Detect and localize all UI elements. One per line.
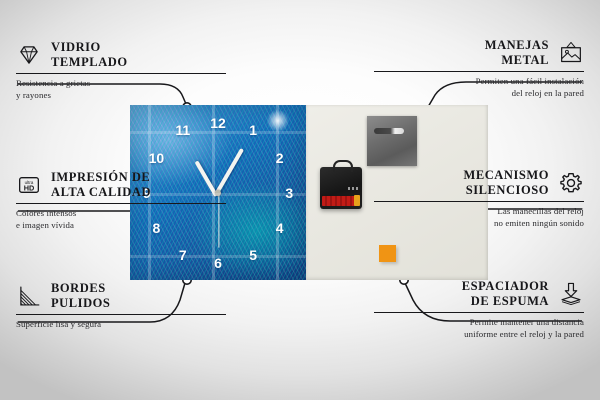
- feature-subtitle-line2: del reloj en la pared: [374, 88, 584, 100]
- clock-numeral-4: 4: [276, 220, 284, 236]
- feature-title-line1: VIDRIO: [51, 40, 128, 55]
- clock-numeral-10: 10: [149, 150, 165, 166]
- foam-spacer-arrow-icon: [558, 281, 584, 307]
- feature-espaciador-espuma: ESPACIADOR DE ESPUMA Permite mantener un…: [374, 279, 584, 341]
- feature-divider: [374, 312, 584, 314]
- metal-hanger-plate: [367, 116, 417, 166]
- clock-numeral-11: 11: [175, 122, 190, 138]
- feature-impresion-alta-calidad: ultra HD IMPRESIÓN DE ALTA CALIDAD Color…: [16, 170, 226, 232]
- feature-divider: [16, 203, 226, 205]
- clock-numeral-3: 3: [285, 185, 293, 201]
- mechanism-hanging-loop: [333, 160, 353, 172]
- feature-divider: [374, 71, 584, 73]
- feature-divider: [16, 314, 226, 316]
- feature-title-line1: MANEJAS: [485, 38, 549, 53]
- diamond-icon: [16, 42, 42, 68]
- clock-numeral-6: 6: [214, 255, 222, 271]
- feature-title-line1: IMPRESIÓN DE: [51, 170, 151, 185]
- clock-numeral-1: 1: [249, 122, 257, 138]
- feature-subtitle-line2: uniforme entre el reloj y la pared: [374, 329, 584, 341]
- feature-bordes-pulidos: BORDES PULIDOS Superficie lisa y segura: [16, 281, 226, 331]
- svg-text:HD: HD: [24, 183, 35, 192]
- feature-title-line2: SILENCIOSO: [463, 183, 549, 198]
- feature-divider: [16, 73, 226, 75]
- clock-numeral-2: 2: [276, 150, 284, 166]
- feature-subtitle-line1: Las manecillas del reloj: [374, 206, 584, 218]
- feature-subtitle-line1: Colores intensos: [16, 208, 226, 220]
- feature-vidrio-templado: VIDRIO TEMPLADO Resistencia a grietas y …: [16, 40, 226, 102]
- feature-title-line1: ESPACIADOR: [462, 279, 549, 294]
- mechanism-battery-label: [322, 196, 356, 206]
- hanger-slot: [374, 128, 404, 134]
- clock-numeral-12: 12: [210, 115, 226, 131]
- feature-title-line2: DE ESPUMA: [462, 294, 549, 309]
- feature-subtitle-line1: Permiten una fácil instalación: [374, 76, 584, 88]
- feature-manejas-metal: MANEJAS METAL Permiten una fácil instala…: [374, 38, 584, 100]
- mechanism-label-text: [348, 187, 358, 190]
- feature-subtitle-line1: Superficie lisa y segura: [16, 319, 226, 331]
- feature-title-line2: ALTA CALIDAD: [51, 185, 151, 200]
- feature-subtitle-line2: no emiten ningún sonido: [374, 218, 584, 230]
- clock-numeral-5: 5: [249, 247, 257, 263]
- feature-title-line1: MECANISMO: [463, 168, 549, 183]
- feature-title-line2: PULIDOS: [51, 296, 110, 311]
- feature-title-line2: TEMPLADO: [51, 55, 128, 70]
- clock-numeral-7: 7: [179, 247, 187, 263]
- clock-mechanism: [320, 167, 362, 209]
- feature-subtitle-line1: Resistencia a grietas: [16, 78, 226, 90]
- feature-title-line2: METAL: [485, 53, 549, 68]
- gear-icon: [558, 170, 584, 196]
- ultra-hd-badge-icon: ultra HD: [16, 172, 42, 198]
- mechanism-yellow-chip: [354, 195, 360, 206]
- polished-edge-icon: [16, 283, 42, 309]
- feature-mecanismo-silencioso: MECANISMO SILENCIOSO Las manecillas del …: [374, 168, 584, 230]
- feature-subtitle-line1: Permite mantener una distancia: [374, 317, 584, 329]
- feature-divider: [374, 201, 584, 203]
- foam-spacer-pad: [379, 245, 396, 262]
- picture-hanger-icon: [558, 40, 584, 66]
- infographic-canvas: 12 1 2 3 4 5 6 7 8 9 10 11: [0, 0, 600, 400]
- feature-title-line1: BORDES: [51, 281, 110, 296]
- feature-subtitle-line2: y rayones: [16, 90, 226, 102]
- feature-subtitle-line2: e imagen vívida: [16, 220, 226, 232]
